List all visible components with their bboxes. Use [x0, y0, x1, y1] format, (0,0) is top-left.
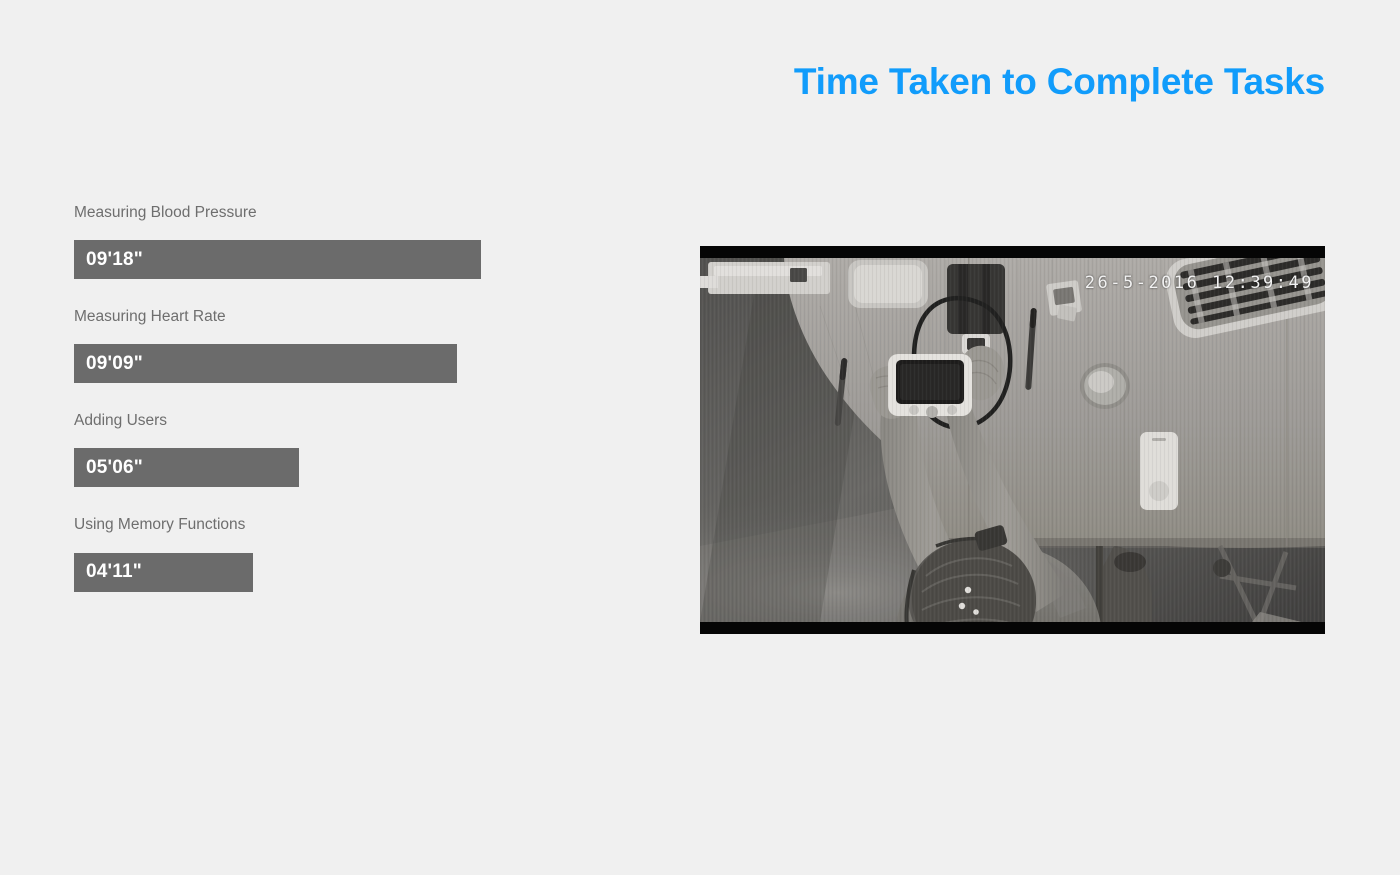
bar-label-measuring-blood-pressure: Measuring Blood Pressure [74, 203, 634, 223]
surveillance-frame-graphic [700, 246, 1325, 634]
bar-measuring-heart-rate: 09'09" [74, 344, 457, 383]
page-title: Time Taken to Complete Tasks [0, 62, 1325, 103]
chart-row: Using Memory Functions 04'11" [74, 515, 634, 591]
bar-value-measuring-heart-rate: 09'09" [86, 353, 143, 375]
bar-label-measuring-heart-rate: Measuring Heart Rate [74, 307, 634, 327]
chart-row: Adding Users 05'06" [74, 411, 634, 487]
bar-value-adding-users: 05'06" [86, 457, 143, 479]
video-timestamp: 26-5-2016 12:39:49 [1085, 273, 1314, 293]
chart-row: Measuring Heart Rate 09'09" [74, 307, 634, 383]
bar-label-using-memory-functions: Using Memory Functions [74, 515, 634, 535]
bar-label-adding-users: Adding Users [74, 411, 634, 431]
bar-using-memory-functions: 04'11" [74, 553, 253, 592]
bar-adding-users: 05'06" [74, 448, 299, 487]
bar-chart: Measuring Blood Pressure 09'18" Measurin… [74, 203, 634, 620]
chart-row: Measuring Blood Pressure 09'18" [74, 203, 634, 279]
bar-measuring-blood-pressure: 09'18" [74, 240, 481, 279]
bar-value-measuring-blood-pressure: 09'18" [86, 249, 143, 271]
bar-value-using-memory-functions: 04'11" [86, 561, 142, 583]
video-still-image: 26-5-2016 12:39:49 [700, 246, 1325, 634]
